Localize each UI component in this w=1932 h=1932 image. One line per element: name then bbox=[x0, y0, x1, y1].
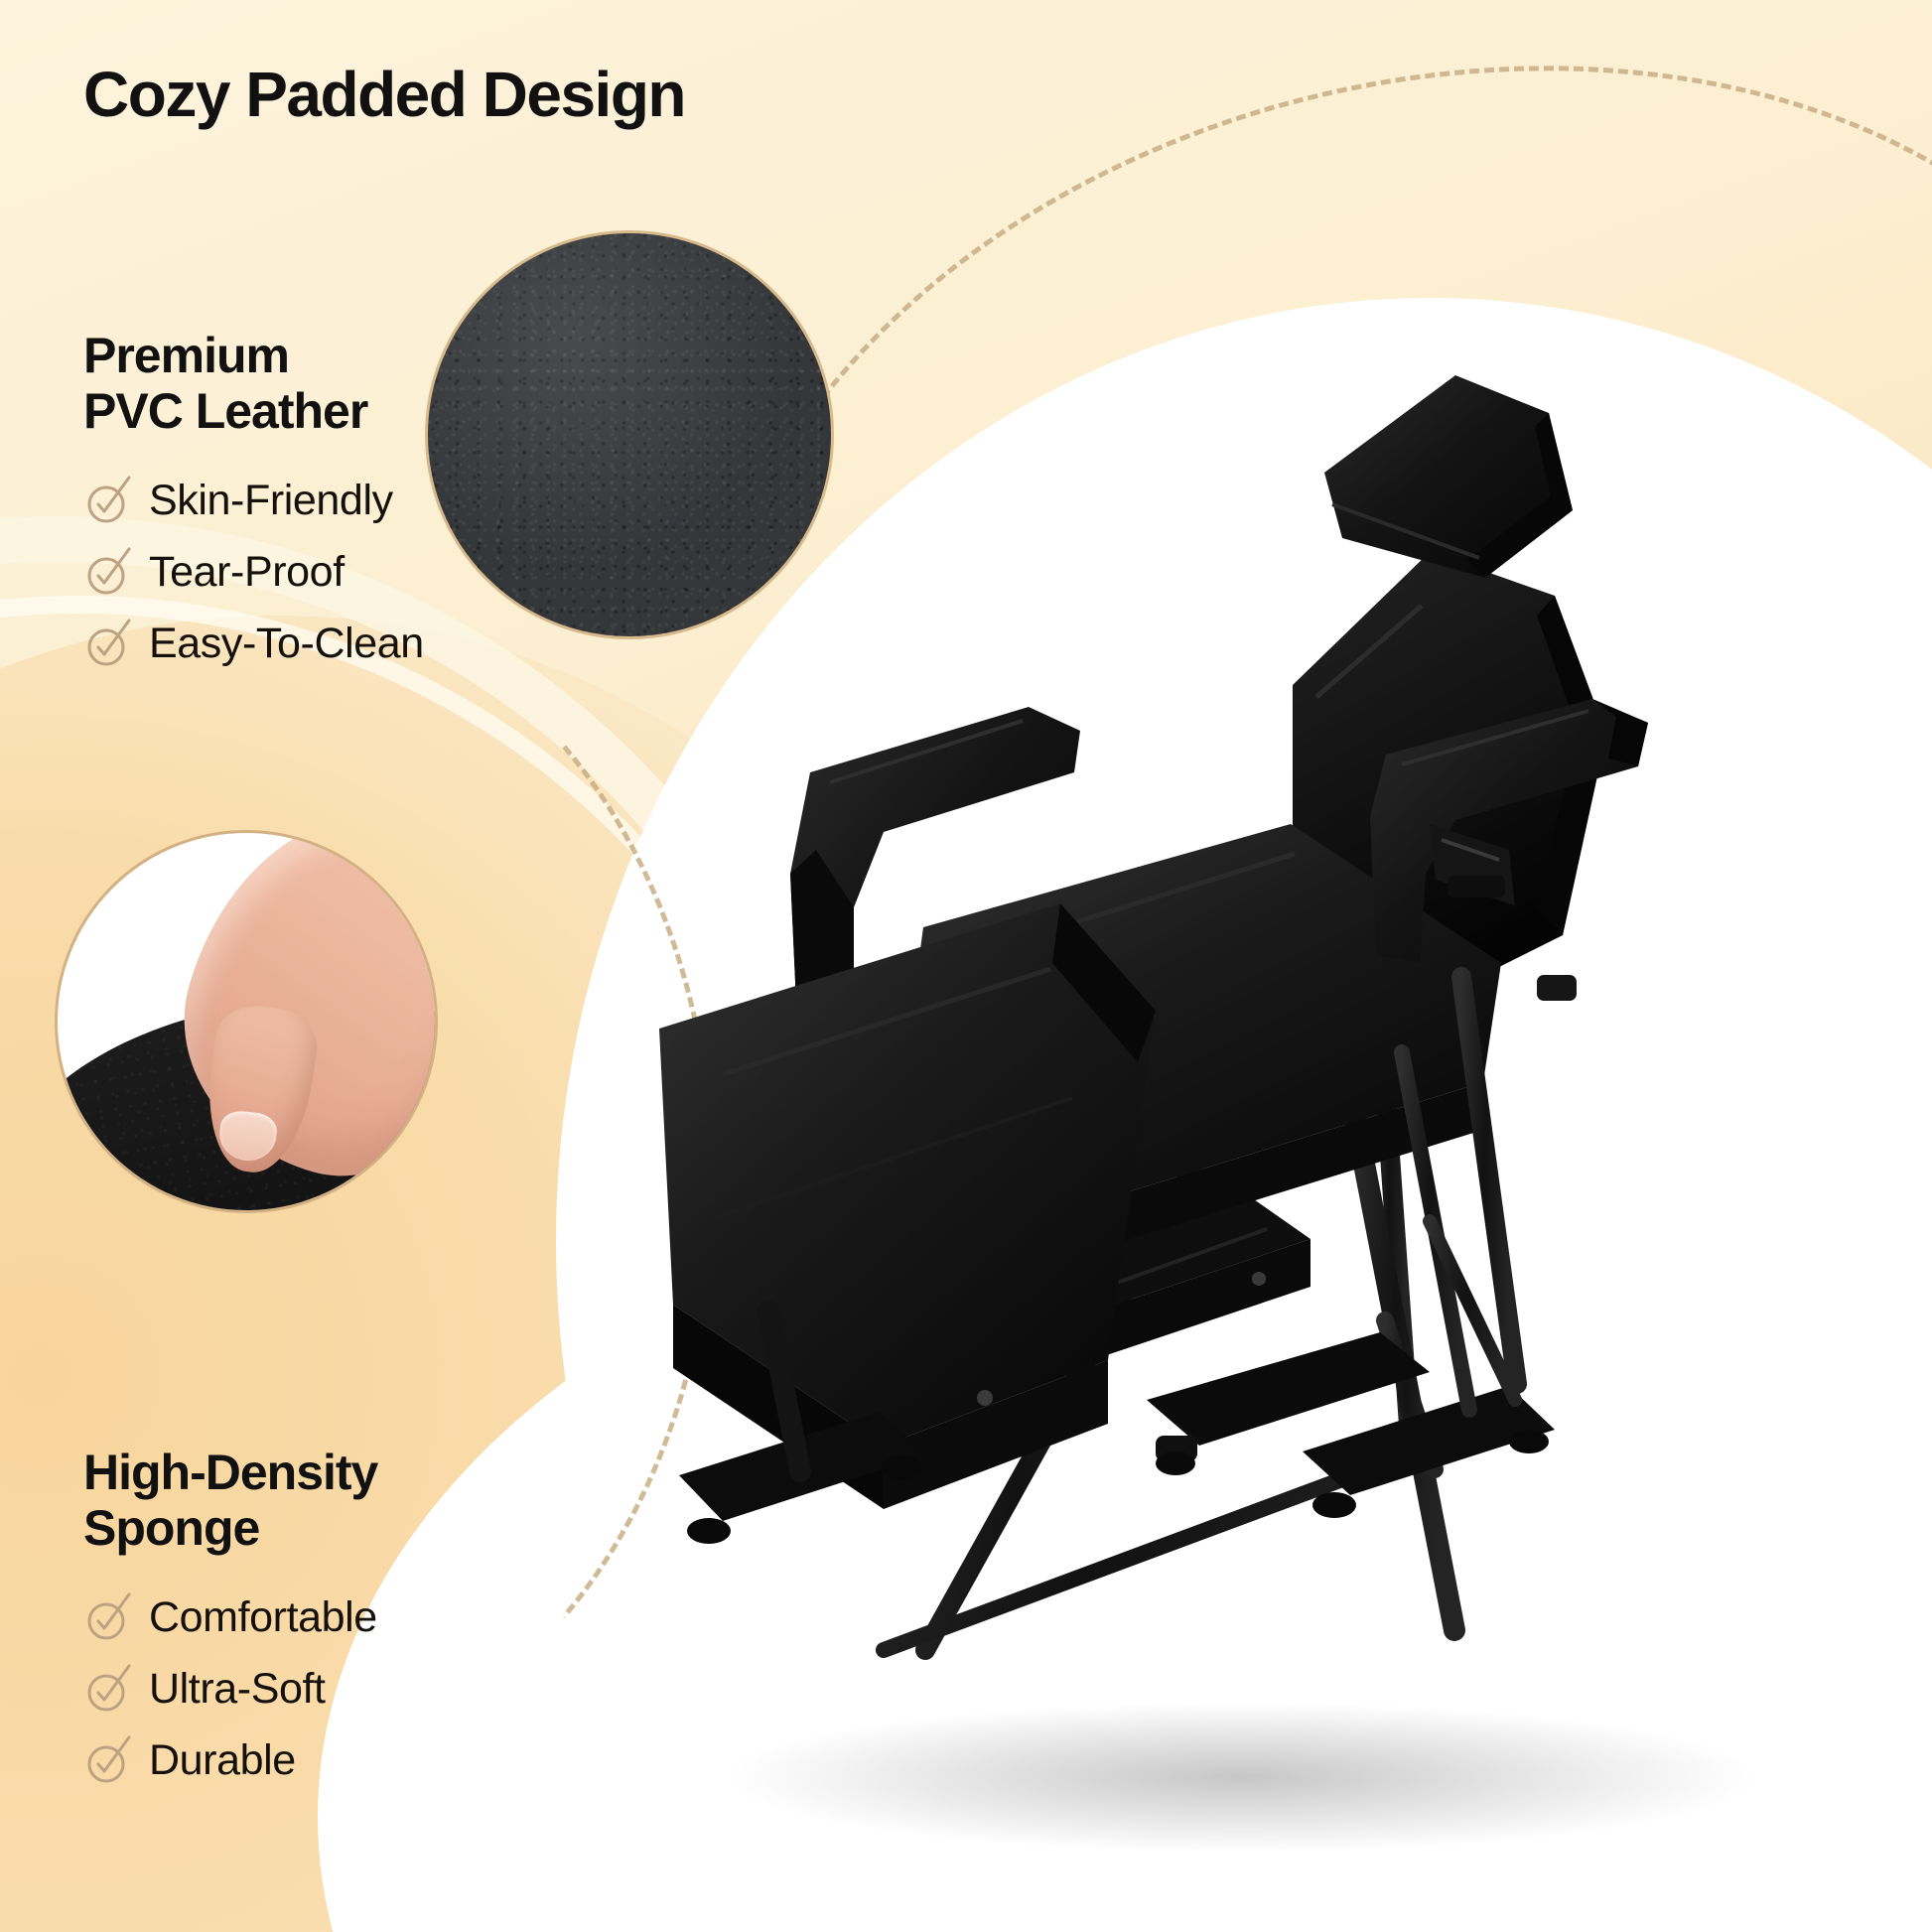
bullet-label: Skin-Friendly bbox=[149, 477, 393, 525]
list-item: Ultra-Soft bbox=[83, 1653, 510, 1725]
headrest-pillow bbox=[1324, 375, 1573, 578]
check-circle-icon bbox=[83, 1735, 133, 1785]
feature-title-sponge-line2: Sponge bbox=[83, 1500, 510, 1556]
feature-title-sponge-line1: High-Density bbox=[83, 1445, 510, 1500]
bullet-list-sponge: Comfortable Ultra-Soft D bbox=[83, 1582, 510, 1796]
check-circle-icon bbox=[83, 1592, 133, 1642]
feature-title-sponge: High-Density Sponge bbox=[83, 1445, 510, 1556]
check-circle-icon bbox=[83, 547, 133, 597]
infographic-canvas: Cozy Padded Design Premium PVC Leather S… bbox=[0, 0, 1932, 1932]
bullet-label: Ultra-Soft bbox=[149, 1665, 326, 1714]
feature-block-high-density-sponge: High-Density Sponge Comfortable bbox=[83, 1445, 510, 1796]
list-item: Durable bbox=[83, 1725, 510, 1796]
floor-shadow bbox=[725, 1702, 1757, 1853]
check-circle-icon bbox=[83, 619, 133, 668]
leg-rest-panel bbox=[659, 903, 1156, 1509]
list-item: Comfortable bbox=[83, 1582, 510, 1653]
black-spa-facial-bed-chair bbox=[556, 268, 1926, 1896]
check-circle-icon bbox=[83, 476, 133, 525]
bullet-label: Durable bbox=[149, 1736, 296, 1785]
bullet-label: Easy-To-Clean bbox=[149, 620, 424, 668]
page-title: Cozy Padded Design bbox=[83, 62, 685, 128]
check-circle-icon bbox=[83, 1664, 133, 1714]
hand-pressing-sponge-photo bbox=[55, 830, 438, 1213]
bullet-label: Comfortable bbox=[149, 1593, 377, 1642]
bullet-label: Tear-Proof bbox=[149, 548, 345, 597]
